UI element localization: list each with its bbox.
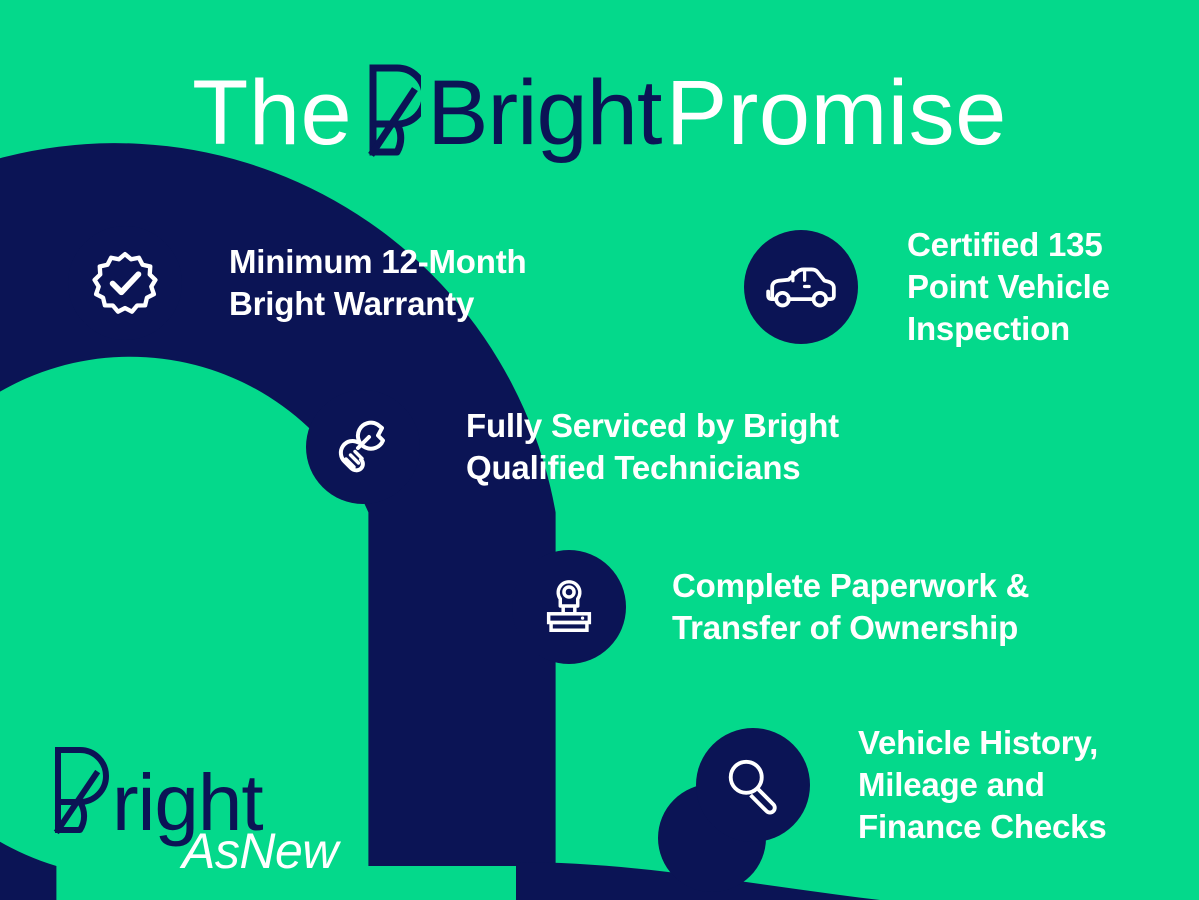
feature-label-serviced: Fully Serviced by Bright Qualified Techn… [466, 405, 839, 489]
feature-item-inspection: Certified 135 Point Vehicle Inspection [744, 224, 1110, 351]
arc-tail-shape [516, 880, 800, 900]
car-icon [765, 260, 837, 314]
rubber-stamp-icon [538, 576, 600, 638]
hand-wrench-icon [331, 415, 395, 479]
feature-badge-warranty [68, 226, 182, 340]
bright-promise-poster: The Bright Promise Minimum 12-Month Brig… [0, 0, 1199, 900]
title-word-bright: Bright [427, 62, 661, 164]
verified-badge-icon [92, 250, 158, 316]
feature-badge-paperwork [512, 550, 626, 664]
arc-tail-shape-2 [516, 862, 880, 900]
feature-badge-checks [696, 728, 810, 842]
bright-logomark-icon [367, 62, 421, 173]
feature-label-paperwork: Complete Paperwork & Transfer of Ownersh… [672, 565, 1029, 649]
feature-badge-inspection [744, 230, 858, 344]
feature-label-checks: Vehicle History, Mileage and Finance Che… [858, 722, 1106, 849]
feature-item-checks: Vehicle History, Mileage and Finance Che… [696, 722, 1106, 849]
page-title: The Bright Promise [0, 62, 1199, 173]
logo-secondary-text: AsNew [179, 823, 341, 872]
title-word-promise: Promise [666, 62, 1007, 164]
magnifying-glass-icon [722, 754, 784, 816]
logo-b-mark-icon [58, 750, 106, 830]
feature-item-paperwork: Complete Paperwork & Transfer of Ownersh… [512, 550, 1029, 664]
feature-label-warranty: Minimum 12-Month Bright Warranty [229, 241, 526, 325]
feature-label-inspection: Certified 135 Point Vehicle Inspection [907, 224, 1110, 351]
title-word-the: The [192, 62, 352, 164]
feature-item-warranty: Minimum 12-Month Bright Warranty [68, 226, 526, 340]
feature-item-serviced: Fully Serviced by Bright Qualified Techn… [306, 390, 839, 504]
feature-badge-serviced [306, 390, 420, 504]
brand-logo: right AsNew [52, 742, 372, 872]
